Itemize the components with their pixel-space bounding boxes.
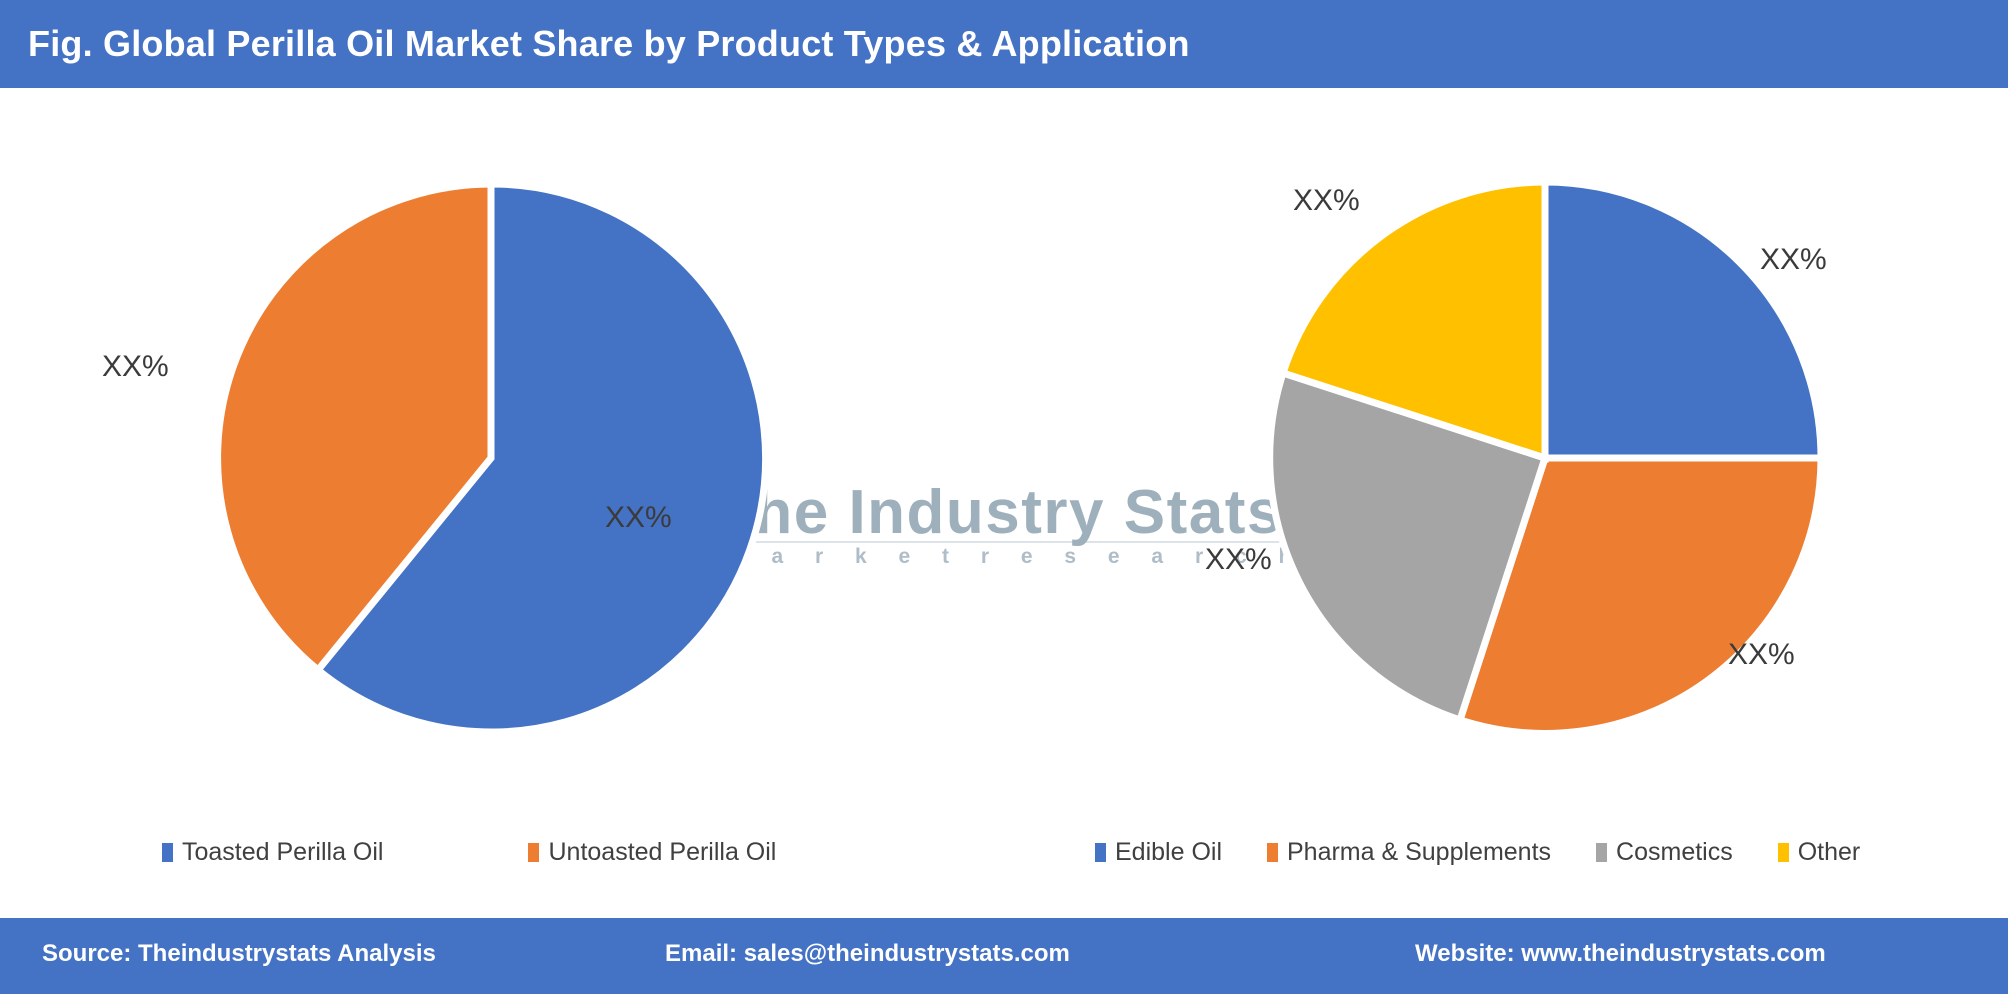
product-types-pie-chart: [200, 88, 800, 748]
legend-application: Edible Oil Pharma & Supplements Cosmetic…: [1095, 838, 1905, 867]
plot-area: The Industry Stats m a r k e t r e s e a…: [0, 88, 2008, 908]
legend-swatch-other: [1778, 843, 1789, 862]
figure-footer-bar: Source: Theindustrystats Analysis Email:…: [0, 918, 2008, 994]
figure-title: Fig. Global Perilla Oil Market Share by …: [0, 23, 1190, 65]
footer-email[interactable]: Email: sales@theindustrystats.com: [665, 940, 1070, 968]
data-label-cosmetics: XX%: [1205, 543, 1272, 577]
legend-item-other[interactable]: Other: [1778, 838, 1861, 867]
legend-item-pharma-supplements[interactable]: Pharma & Supplements: [1267, 838, 1551, 867]
legend-swatch-toasted-perilla-oil: [162, 843, 173, 862]
legend-item-edible-oil[interactable]: Edible Oil: [1095, 838, 1222, 867]
data-label-untoasted-perilla-oil: XX%: [102, 350, 169, 384]
chart-figure: Fig. Global Perilla Oil Market Share by …: [0, 0, 2008, 994]
data-label-toasted-perilla-oil: XX%: [605, 501, 672, 535]
legend-item-cosmetics[interactable]: Cosmetics: [1596, 838, 1733, 867]
legend-item-untoasted-perilla-oil[interactable]: Untoasted Perilla Oil: [528, 838, 776, 867]
legend-swatch-cosmetics: [1596, 843, 1607, 862]
data-label-edible-oil: XX%: [1760, 243, 1827, 277]
legend-item-toasted-perilla-oil[interactable]: Toasted Perilla Oil: [162, 838, 383, 867]
legend-swatch-untoasted-perilla-oil: [528, 843, 539, 862]
legend-label-other: Other: [1798, 838, 1861, 867]
legend-product-types: Toasted Perilla Oil Untoasted Perilla Oi…: [162, 838, 921, 867]
legend-label-toasted-perilla-oil: Toasted Perilla Oil: [182, 838, 383, 867]
legend-label-untoasted-perilla-oil: Untoasted Perilla Oil: [548, 838, 776, 867]
legend-label-edible-oil: Edible Oil: [1115, 838, 1222, 867]
legend-label-pharma-supplements: Pharma & Supplements: [1287, 838, 1551, 867]
legend-label-cosmetics: Cosmetics: [1616, 838, 1733, 867]
legend-swatch-pharma-supplements: [1267, 843, 1278, 862]
figure-header-bar: Fig. Global Perilla Oil Market Share by …: [0, 0, 2008, 88]
pie-slice-edible-oil[interactable]: [1545, 182, 1821, 458]
watermark-brand: The Industry Stats: [715, 477, 1283, 548]
data-label-pharma-supplements: XX%: [1728, 638, 1795, 672]
data-label-other: XX%: [1293, 184, 1360, 218]
legend-swatch-edible-oil: [1095, 843, 1106, 862]
footer-source: Source: Theindustrystats Analysis: [42, 940, 436, 968]
footer-website[interactable]: Website: www.theindustrystats.com: [1415, 940, 1826, 968]
